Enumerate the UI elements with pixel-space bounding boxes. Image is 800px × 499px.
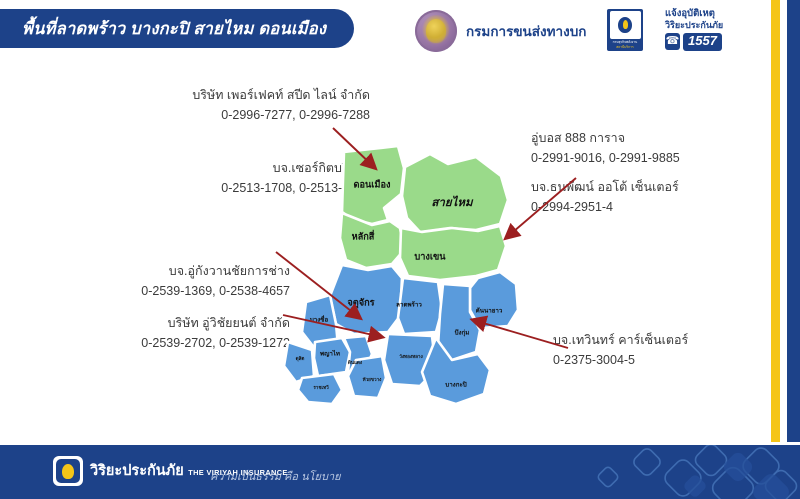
- map-districts-blue: [284, 265, 518, 404]
- footer-brand-th: วิริยะประกันภัย: [90, 463, 184, 479]
- hotline-line2: วิริยะประกันภัย: [665, 20, 723, 32]
- district-label: บึงกุ่ม: [455, 329, 470, 337]
- viriyah-flame-logo-icon: [53, 456, 83, 486]
- district-label: หลักสี่: [352, 229, 375, 241]
- page-title: พื้นที่ลาดพร้าว บางกะปิ สายไหม ดอนเมือง: [22, 16, 326, 42]
- cert-badge-sub: สถานีบริการ: [607, 45, 643, 50]
- footer-decorative-pattern: [540, 445, 800, 499]
- district-label: ลาดพร้าว: [396, 301, 422, 309]
- callout-u-wichaiyon: บริษัท อู่วิชัยยนต์ จำกัด 0-2539-2702, 0…: [50, 313, 290, 354]
- energy-certification-badge: กรมธุรกิจพลังงาน สถานีบริการ: [607, 9, 643, 51]
- hotline-line1: แจ้งอุบัติเหตุ: [665, 8, 715, 20]
- district-label: ดอนเมือง: [354, 178, 391, 189]
- district-shape-sai-mai: [402, 154, 508, 232]
- right-accent-bar-yellow: [771, 0, 780, 442]
- agency-brand: กรมการขนส่งทางบก: [415, 6, 586, 56]
- header-title-pill: พื้นที่ลาดพร้าว บางกะปิ สายไหม ดอนเมือง: [0, 9, 354, 48]
- district-label: ห้วยขวาง: [363, 376, 383, 382]
- district-label: คันนายาว: [476, 307, 503, 315]
- district-label: ราชเทวี: [313, 384, 329, 390]
- callout-line: บจ.เทวินทร์ คาร์เซ็นเตอร์: [553, 330, 793, 350]
- cert-badge-label: กรมธุรกิจพลังงาน: [613, 40, 638, 44]
- government-seal-icon: [415, 10, 457, 52]
- flame-emblem-icon: [610, 11, 641, 39]
- callout-line: บจ.อู่กังวานชัยการช่าง: [50, 261, 290, 281]
- district-label: วังทองหลาง: [399, 353, 423, 359]
- bangkok-district-map: ดอนเมืองสายไหมหลักสี่บางเขนจตุจักรลาดพร้…: [280, 120, 570, 410]
- district-label: บางซื่อ: [310, 315, 329, 324]
- poster-canvas: พื้นที่ลาดพร้าว บางกะปิ สายไหม ดอนเมือง …: [0, 0, 800, 499]
- accident-hotline-block: แจ้งอุบัติเหตุ วิริยะประกันภัย ☎ 1557: [665, 8, 743, 51]
- callout-kong-wanchai: บจ.อู่กังวานชัยการช่าง 0-2539-1369, 0-25…: [50, 261, 290, 302]
- callout-line: 0-2539-1369, 0-2538-4657: [50, 281, 290, 301]
- footer-bar: วิริยะประกันภัย THE VIRIYAH INSURANCE คว…: [0, 445, 800, 499]
- agency-name: กรมการขนส่งทางบก: [466, 20, 586, 42]
- callout-line: 0-2539-2702, 0-2539-1272: [50, 333, 290, 353]
- district-label: ดุสิต: [296, 355, 305, 362]
- district-shape-khan-na-yao: [470, 272, 518, 328]
- district-label: บางกะปิ: [445, 381, 466, 389]
- callout-line: บริษัท อู่วิชัยยนต์ จำกัด: [50, 313, 290, 333]
- footer-slogan: ความเป็นธรรม คือ นโยบาย: [210, 467, 341, 485]
- callout-line: บริษัท เพอร์เฟคท์ สปีด ไลน์ จำกัด: [120, 85, 370, 105]
- district-label: ดินแดง: [348, 359, 363, 365]
- callout-thewinthon-car-center: บจ.เทวินทร์ คาร์เซ็นเตอร์ 0-2375-3004-5: [553, 330, 793, 371]
- district-label: จตุจักร: [347, 297, 374, 308]
- callout-line: 0-2375-3004-5: [553, 350, 793, 370]
- district-label: บางเขน: [414, 251, 446, 261]
- district-label: สายไหม: [431, 195, 474, 209]
- hotline-number: 1557: [683, 33, 722, 51]
- district-label: พญาไท: [319, 350, 340, 358]
- phone-icon: ☎: [665, 33, 680, 50]
- right-accent-bar-blue: [787, 0, 800, 442]
